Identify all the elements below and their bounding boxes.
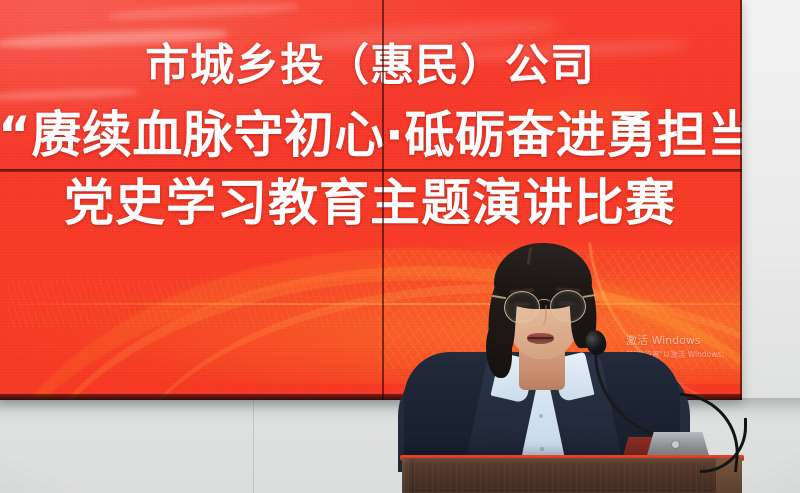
glasses-lens-right (550, 290, 586, 323)
shirt-button-1 (539, 414, 543, 418)
podium-left-edge (402, 458, 414, 493)
mouth-line (528, 337, 553, 339)
glasses-lens-left (504, 291, 540, 324)
conference-photo-scene: 市城乡投（惠民）公司 “赓续血脉守初心·砥砺奋进勇担当” 党史学习教育主题演讲比… (0, 0, 800, 493)
